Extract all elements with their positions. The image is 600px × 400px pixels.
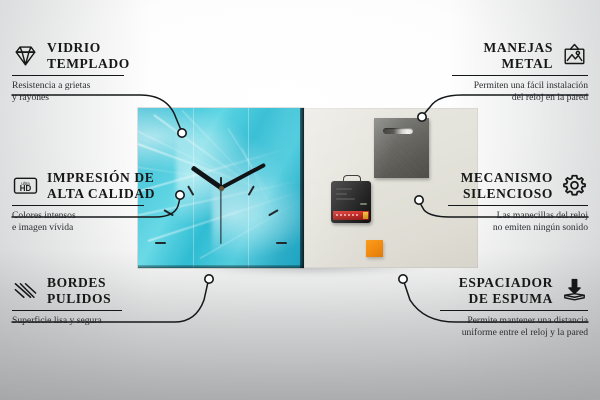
callout-subtitle: Permiten una fácil instalación del reloj… [452,80,588,103]
callout-divider [452,75,588,76]
mechanism-hanger-tab [343,175,361,184]
callout-subtitle: Colores intensos e imagen vívida [12,210,144,233]
callout-title: MECANISMO SILENCIOSO [461,170,553,201]
clock-center-cap [219,186,224,191]
ultra-hd-icon: ultra HD [12,172,39,199]
callout-title: ESPACIADOR DE ESPUMA [459,275,553,306]
callout-divider [440,310,588,311]
callout-impresion-alta-calidad: ultra HD IMPRESIÓN DE ALTA CALIDAD Color… [12,170,144,233]
diamond-icon [12,42,39,69]
callout-divider [12,310,122,311]
clock-bottom-edge [138,265,304,268]
callout-subtitle: Superficie lisa y segura [12,315,122,327]
foam-spacer-square [366,240,383,257]
product-image [138,108,478,273]
polished-edges-icon [12,277,39,304]
hanging-frame-icon [561,42,588,69]
clock-tick [155,242,166,244]
metal-hanger-plate [374,118,429,178]
callout-mecanismo-silencioso: MECANISMO SILENCIOSO Las manecillas del … [448,170,588,233]
callout-vidrio-templado: VIDRIO TEMPLADO Resistencia a grietas y … [12,40,124,103]
callout-divider [12,75,124,76]
clock-front-panel [138,108,304,268]
callout-subtitle: Las manecillas del reloj no emiten ningú… [448,210,588,233]
callout-divider [12,205,144,206]
hanger-keyhole-slot [383,128,413,134]
arrow-down-pad-icon [561,277,588,304]
battery-indicator [333,211,369,220]
callout-title: IMPRESIÓN DE ALTA CALIDAD [47,170,155,201]
callout-bordes-pulidos: BORDES PULIDOS Superficie lisa y segura [12,275,122,327]
callout-title: VIDRIO TEMPLADO [47,40,130,71]
callout-title: BORDES PULIDOS [47,275,111,306]
callout-subtitle: Permite mantener una distancia uniforme … [440,315,588,338]
clock-mechanism-box [331,181,371,223]
callout-espaciador-espuma: ESPACIADOR DE ESPUMA Permite mantener un… [440,275,588,338]
callout-manejas-metal: MANEJAS METAL Permiten una fácil instala… [452,40,588,103]
callout-divider [448,205,588,206]
clock-tick [276,242,287,244]
infographic-canvas: VIDRIO TEMPLADO Resistencia a grietas y … [0,0,600,400]
gear-icon [561,172,588,199]
svg-text:HD: HD [20,184,32,193]
callout-subtitle: Resistencia a grietas y rayones [12,80,124,103]
callout-title: MANEJAS METAL [484,40,553,71]
